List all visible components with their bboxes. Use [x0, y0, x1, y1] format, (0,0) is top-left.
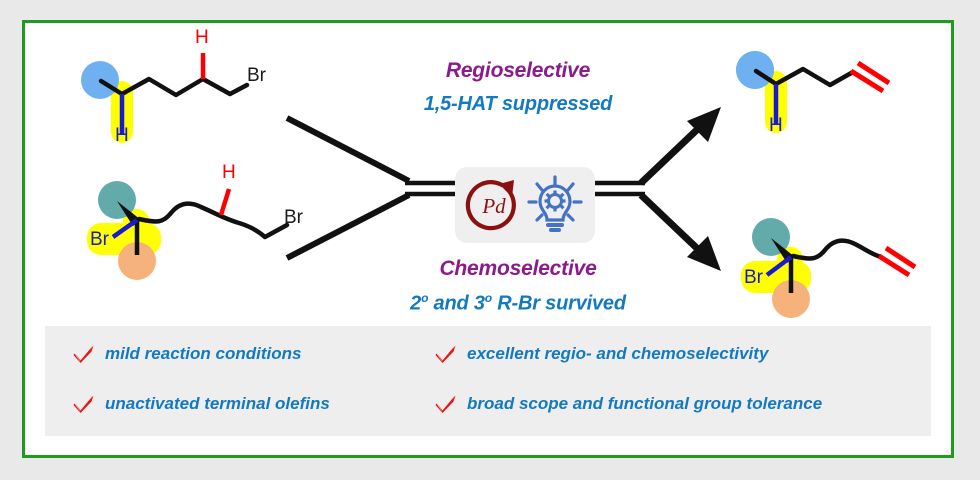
- lightbulb-gear-icon: [523, 173, 587, 237]
- highlight-item: unactivated terminal olefins: [73, 394, 330, 414]
- substrate-bottom-br-highlight-label: Br: [90, 230, 109, 249]
- checkmark-icon: [435, 394, 457, 414]
- highlight-item: excellent regio- and chemoselectivity: [435, 344, 768, 364]
- product-top-structure: [736, 51, 889, 133]
- highlight-item: broad scope and functional group toleran…: [435, 394, 822, 414]
- checkmark-icon: [73, 394, 95, 414]
- highlight-item: mild reaction conditions: [73, 344, 301, 364]
- rbr-sup-2: o: [485, 291, 492, 305]
- label-regioselective: Regioselective: [423, 59, 613, 83]
- highlight-label: unactivated terminal olefins: [105, 394, 330, 414]
- checkmark-icon: [435, 344, 457, 364]
- product-top-h-highlight-label: H: [769, 116, 783, 135]
- product-bottom-chain: [793, 241, 881, 259]
- highlight-label: mild reaction conditions: [105, 344, 301, 364]
- converge-line-bottom: [287, 195, 409, 258]
- substrate-bottom-br-label: Br: [284, 208, 303, 227]
- product-arrows: [641, 107, 721, 271]
- catalyst-conditions-pill: Pd: [455, 167, 595, 243]
- rbr-post: R-Br survived: [492, 293, 626, 315]
- label-chemoselective: Chemoselective: [423, 257, 613, 281]
- figure-frame: H Br H H Br Br H Br Regioselective 1,5-H…: [22, 20, 954, 458]
- product-bottom-structure: [741, 218, 915, 318]
- substrate-top-br-label: Br: [247, 66, 266, 85]
- substrate-top-structure: [81, 53, 247, 143]
- highlights-panel: mild reaction conditions unactivated ter…: [45, 326, 931, 436]
- substrate-top-h-highlight-label: H: [115, 126, 129, 145]
- pd-catalyst-icon: Pd: [463, 173, 525, 237]
- highlight-label: excellent regio- and chemoselectivity: [467, 344, 768, 364]
- arrow-bottom-shaft: [641, 195, 703, 254]
- substrate-bottom-chain: [139, 204, 287, 237]
- converge-line-top: [287, 118, 409, 181]
- graphical-abstract-root: H Br H H Br Br H Br Regioselective 1,5-H…: [0, 0, 980, 480]
- substrate-top-allylic-h-label: H: [195, 28, 209, 47]
- rbr-pre: 2: [410, 293, 421, 315]
- highlight-label: broad scope and functional group toleran…: [467, 394, 822, 414]
- label-rbr-survived: 2o and 3o R-Br survived: [398, 291, 638, 316]
- pd-label: Pd: [481, 194, 506, 218]
- checkmark-icon: [73, 344, 95, 364]
- substrate-bottom-structure: [87, 181, 287, 280]
- substrate-bottom-allylic-h-label: H: [222, 163, 236, 182]
- label-hat-suppressed: 1,5-HAT suppressed: [398, 93, 638, 116]
- arrow-top-shaft: [641, 124, 703, 183]
- substrate-bottom-allylic-bond: [221, 189, 229, 215]
- rbr-mid: and 3: [428, 293, 485, 315]
- product-bottom-br-highlight-label: Br: [744, 268, 763, 287]
